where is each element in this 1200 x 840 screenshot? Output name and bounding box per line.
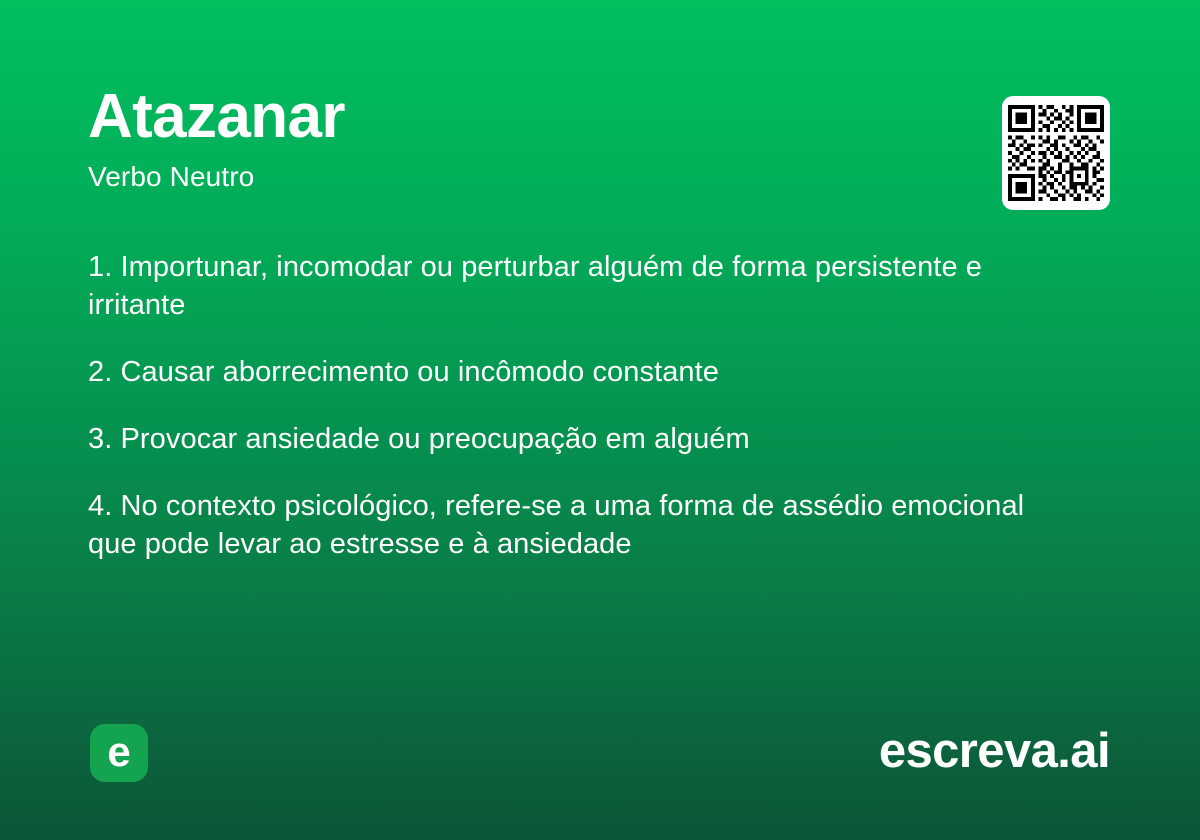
card-header: Atazanar Verbo Neutro [88,84,968,193]
definition-item: 3. Provocar ansiedade ou preocupação em … [88,420,1078,458]
page-title: Atazanar [88,84,968,149]
brand-logo-letter: e [107,731,130,773]
brand-logo-badge: e [90,724,148,782]
qr-code-panel[interactable] [1002,96,1110,210]
definition-item: 2. Causar aborrecimento ou incômodo cons… [88,353,1078,391]
definition-item: 4. No contexto psicológico, refere-se a … [88,487,1078,563]
definition-item: 1. Importunar, incomodar ou perturbar al… [88,248,1078,324]
dictionary-card: Atazanar Verbo Neutro [0,0,1200,840]
word-class-label: Verbo Neutro [88,162,968,193]
qr-code-icon [1008,103,1104,203]
brand-wordmark: escreva.ai [879,722,1110,781]
definition-list: 1. Importunar, incomodar ou perturbar al… [88,248,1078,563]
